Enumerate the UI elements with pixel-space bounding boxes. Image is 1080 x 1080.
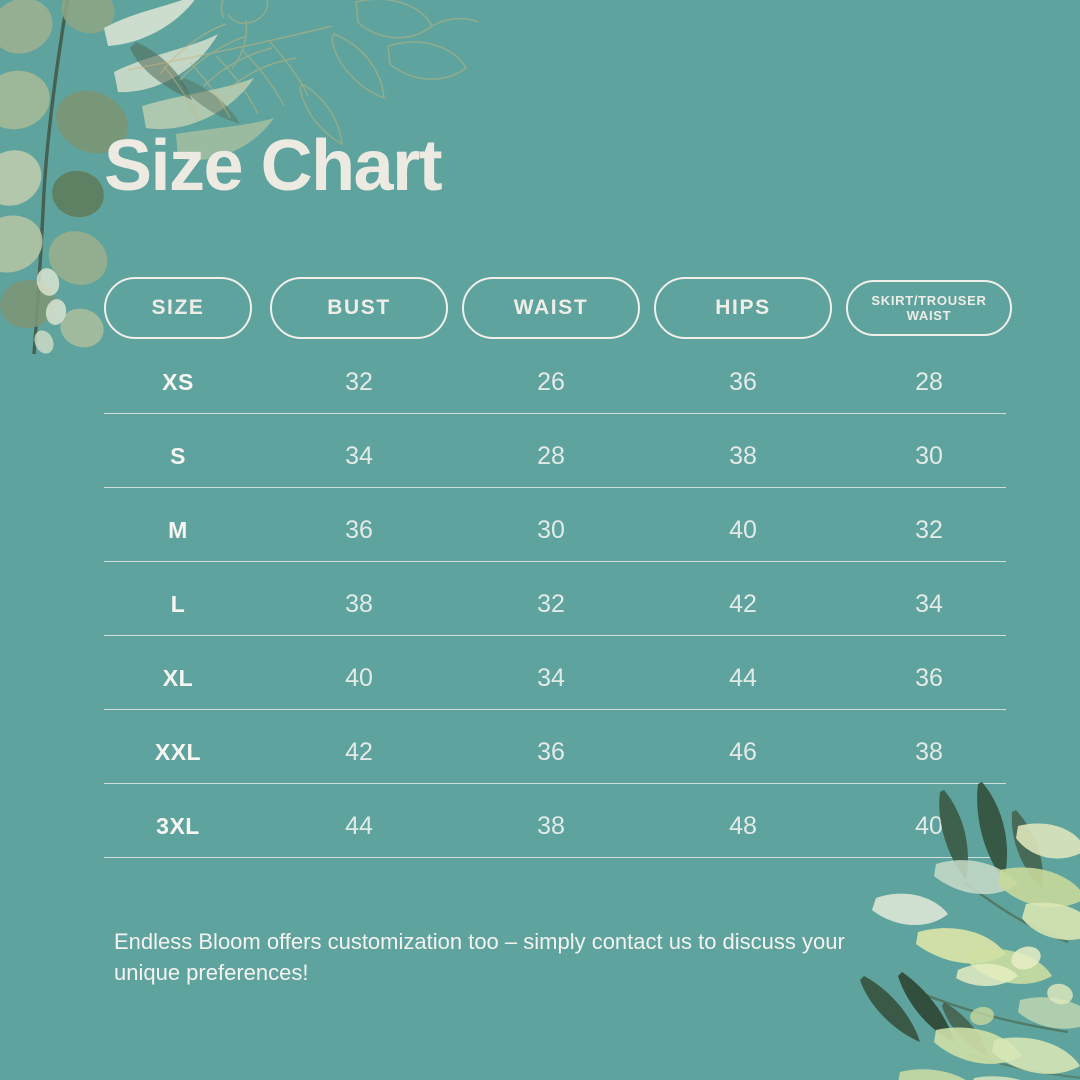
- cell-size: XS: [104, 369, 252, 396]
- table-row: S 34 28 38 30: [104, 425, 1006, 488]
- cell-waist: 30: [462, 516, 640, 545]
- table-row: XS 32 26 36 28: [104, 351, 1006, 414]
- cell-bust: 32: [270, 368, 448, 397]
- cell-hips: 44: [654, 664, 832, 693]
- cell-bust: 36: [270, 516, 448, 545]
- cell-bust: 34: [270, 442, 448, 471]
- cell-waist: 28: [462, 442, 640, 471]
- cell-size: XXL: [104, 739, 252, 766]
- table-row: XL 40 34 44 36: [104, 647, 1006, 710]
- size-chart-table: SIZE BUST WAIST HIPS SKIRT/TROUSER WAIST…: [104, 276, 1006, 858]
- cell-hips: 48: [654, 812, 832, 841]
- cell-skirt-trouser-waist: 28: [846, 368, 1012, 397]
- cell-hips: 46: [654, 738, 832, 767]
- page-title: Size Chart: [104, 130, 441, 202]
- cell-waist: 26: [462, 368, 640, 397]
- size-chart-poster: Size Chart SIZE BUST WAIST HIPS SKIRT/TR…: [0, 0, 1080, 1080]
- cell-skirt-trouser-waist: 40: [846, 812, 1012, 841]
- cell-size: S: [104, 443, 252, 470]
- column-header-size[interactable]: SIZE: [104, 277, 252, 339]
- cell-waist: 32: [462, 590, 640, 619]
- table-row: XXL 42 36 46 38: [104, 721, 1006, 784]
- cell-bust: 42: [270, 738, 448, 767]
- customization-note: Endless Bloom offers customization too –…: [114, 926, 904, 988]
- column-header-skirt-trouser-waist[interactable]: SKIRT/TROUSER WAIST: [846, 280, 1012, 336]
- column-header-hips[interactable]: HIPS: [654, 277, 832, 339]
- cell-bust: 38: [270, 590, 448, 619]
- cell-size: M: [104, 517, 252, 544]
- cell-hips: 42: [654, 590, 832, 619]
- column-header-bust[interactable]: BUST: [270, 277, 448, 339]
- table-row: M 36 30 40 32: [104, 499, 1006, 562]
- column-header-waist[interactable]: WAIST: [462, 277, 640, 339]
- cell-skirt-trouser-waist: 38: [846, 738, 1012, 767]
- cell-hips: 40: [654, 516, 832, 545]
- cell-hips: 38: [654, 442, 832, 471]
- table-row: L 38 32 42 34: [104, 573, 1006, 636]
- table-header-row: SIZE BUST WAIST HIPS SKIRT/TROUSER WAIST: [104, 276, 1006, 340]
- cell-skirt-trouser-waist: 34: [846, 590, 1012, 619]
- cell-hips: 36: [654, 368, 832, 397]
- cell-waist: 34: [462, 664, 640, 693]
- cell-waist: 38: [462, 812, 640, 841]
- cell-size: 3XL: [104, 813, 252, 840]
- cell-waist: 36: [462, 738, 640, 767]
- table-row: 3XL 44 38 48 40: [104, 795, 1006, 858]
- cell-bust: 44: [270, 812, 448, 841]
- cell-skirt-trouser-waist: 36: [846, 664, 1012, 693]
- cell-skirt-trouser-waist: 30: [846, 442, 1012, 471]
- cell-size: L: [104, 591, 252, 618]
- cell-size: XL: [104, 665, 252, 692]
- cell-bust: 40: [270, 664, 448, 693]
- cell-skirt-trouser-waist: 32: [846, 516, 1012, 545]
